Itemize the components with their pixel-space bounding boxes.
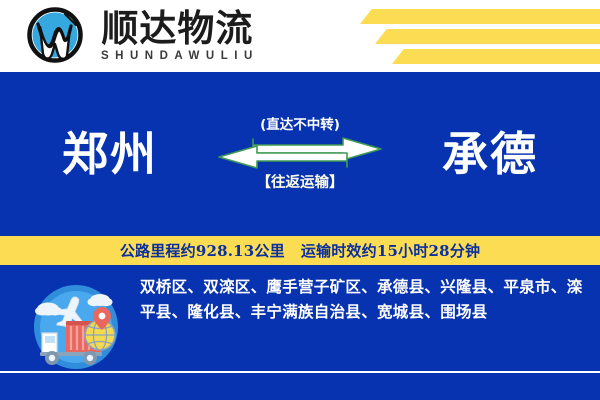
route-arrow-group: (直达不中转) 【往返运输】 <box>205 116 395 193</box>
brand-name-en: SHUNDAWULIU <box>101 49 259 64</box>
coverage-districts-text: 双桥区、双滦区、鹰手营子矿区、承德县、兴隆县、平泉市、滦平县、隆化县、丰宁满族自… <box>140 274 588 324</box>
origin-city: 郑州 <box>15 128 205 180</box>
destination-city: 承德 <box>395 128 585 180</box>
decorative-stripes <box>270 0 600 72</box>
stripe-3 <box>392 49 600 64</box>
brand-name-cn: 顺达物流 <box>101 8 253 48</box>
logo-emblem-icon <box>24 4 86 66</box>
logistics-illustration-icon <box>24 275 128 379</box>
banner-footer <box>0 373 600 400</box>
stripe-2 <box>375 29 600 44</box>
logistics-route-banner: 顺达物流 SHUNDAWULIU 郑州 (直达不中转) 【往返运输】 承德 公路… <box>0 0 600 400</box>
duration-label: 运输时效约15小时28分钟 <box>301 240 480 261</box>
route-info-band: 公路里程约928.13公里 运输时效约15小时28分钟 <box>0 236 600 265</box>
coverage-section: 双桥区、双滦区、鹰手营子矿区、承德县、兴隆县、平泉市、滦平县、隆化县、丰宁满族自… <box>0 265 600 372</box>
brand-logo: 顺达物流 SHUNDAWULIU <box>24 4 259 66</box>
bidirectional-arrow-icon <box>215 136 385 170</box>
round-trip-note: 【往返运输】 <box>257 173 344 193</box>
distance-label: 公路里程约928.13公里 <box>120 240 285 261</box>
stripe-1 <box>360 9 600 24</box>
direct-service-note: (直达不中转) <box>260 116 340 134</box>
route-section: 郑州 (直达不中转) 【往返运输】 承德 <box>0 72 600 236</box>
brand-text: 顺达物流 SHUNDAWULIU <box>96 8 259 64</box>
banner-header: 顺达物流 SHUNDAWULIU <box>0 0 600 72</box>
